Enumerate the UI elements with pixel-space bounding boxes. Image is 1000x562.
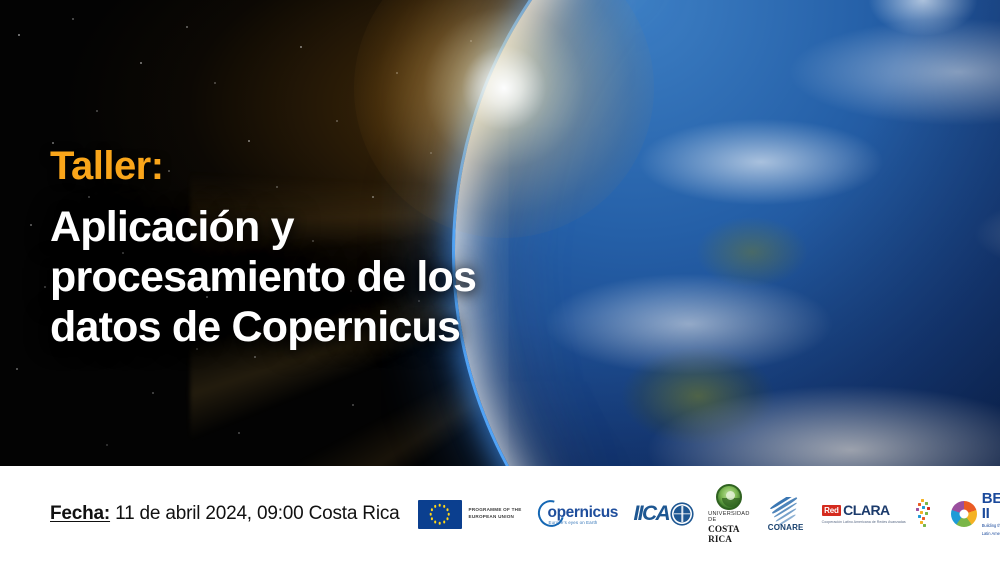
footer-bar: Fecha: 11 de abril 2024, 09:00 Costa Ric… <box>0 466 1000 562</box>
eu-flag-icon <box>418 500 462 529</box>
redclara-red-badge: Red <box>822 505 842 516</box>
logo-bella-ii: BELLA II Building the Europe Link to Lat… <box>951 491 1000 537</box>
eu-line-1: PROGRAMME OF THE <box>469 507 522 514</box>
logo-universidad-de-costa-rica: UNIVERSIDAD DE COSTA RICA <box>708 484 750 544</box>
ucr-line-1: UNIVERSIDAD DE <box>708 511 750 523</box>
copernicus-lockup: opernicus Europe's eyes on Earth <box>538 499 618 529</box>
event-poster: Taller: Aplicación y procesamiento de lo… <box>0 0 1000 562</box>
bella-wordmark: BELLA II <box>982 491 1000 521</box>
bella-tagline-2: Latin America and the Caribbean <box>982 531 1000 537</box>
bella-people-circle-icon <box>951 501 977 527</box>
headline-block: Taller: Aplicación y procesamiento de lo… <box>50 146 690 352</box>
redclara-wordmark: CLARA <box>843 502 890 518</box>
title-line-3: datos de Copernicus <box>50 302 690 352</box>
eu-stars-icon <box>438 513 441 516</box>
redclara-map-icon <box>909 499 935 529</box>
ucr-line-2: COSTA RICA <box>708 524 750 544</box>
logo-conare: CONARE <box>766 497 806 532</box>
eu-wordmark: PROGRAMME OF THE EUROPEAN UNION <box>469 507 522 521</box>
date-value: 11 de abril 2024, 09:00 Costa Rica <box>115 503 399 524</box>
logo-copernicus: opernicus Europe's eyes on Earth <box>538 499 618 529</box>
eu-line-2: EUROPEAN UNION <box>469 514 522 521</box>
bella-lockup: BELLA II Building the Europe Link to Lat… <box>982 491 1000 537</box>
sponsor-logo-row: PROGRAMME OF THE EUROPEAN UNION opernicu… <box>418 484 1000 544</box>
title-line-1: Aplicación y <box>50 202 690 252</box>
conare-wordmark: CONARE <box>768 523 804 532</box>
logo-iica: IICA <box>634 502 693 526</box>
date-label: Fecha: <box>50 503 110 524</box>
redclara-wordmark-row: Red CLARA <box>822 502 906 518</box>
iica-wordmark: IICA <box>634 502 670 526</box>
logo-redclara: Red CLARA Cooperación Latino Americana d… <box>822 499 935 529</box>
copernicus-tagline: Europe's eyes on Earth <box>549 520 598 525</box>
redclara-tagline: Cooperación Latino Americana de Redes Av… <box>822 520 906 525</box>
kicker-text: Taller: <box>50 146 690 188</box>
title-line-2: procesamiento de los <box>50 252 690 302</box>
hero-space-background: Taller: Aplicación y procesamiento de lo… <box>0 0 1000 466</box>
iica-globe-icon <box>672 504 692 524</box>
event-date: Fecha: 11 de abril 2024, 09:00 Costa Ric… <box>50 503 400 525</box>
redclara-lockup: Red CLARA Cooperación Latino Americana d… <box>822 502 906 525</box>
bella-tagline-1: Building the Europe Link to <box>982 523 1000 529</box>
logo-european-union: PROGRAMME OF THE EUROPEAN UNION <box>418 500 522 529</box>
ucr-seal-icon <box>716 484 742 510</box>
